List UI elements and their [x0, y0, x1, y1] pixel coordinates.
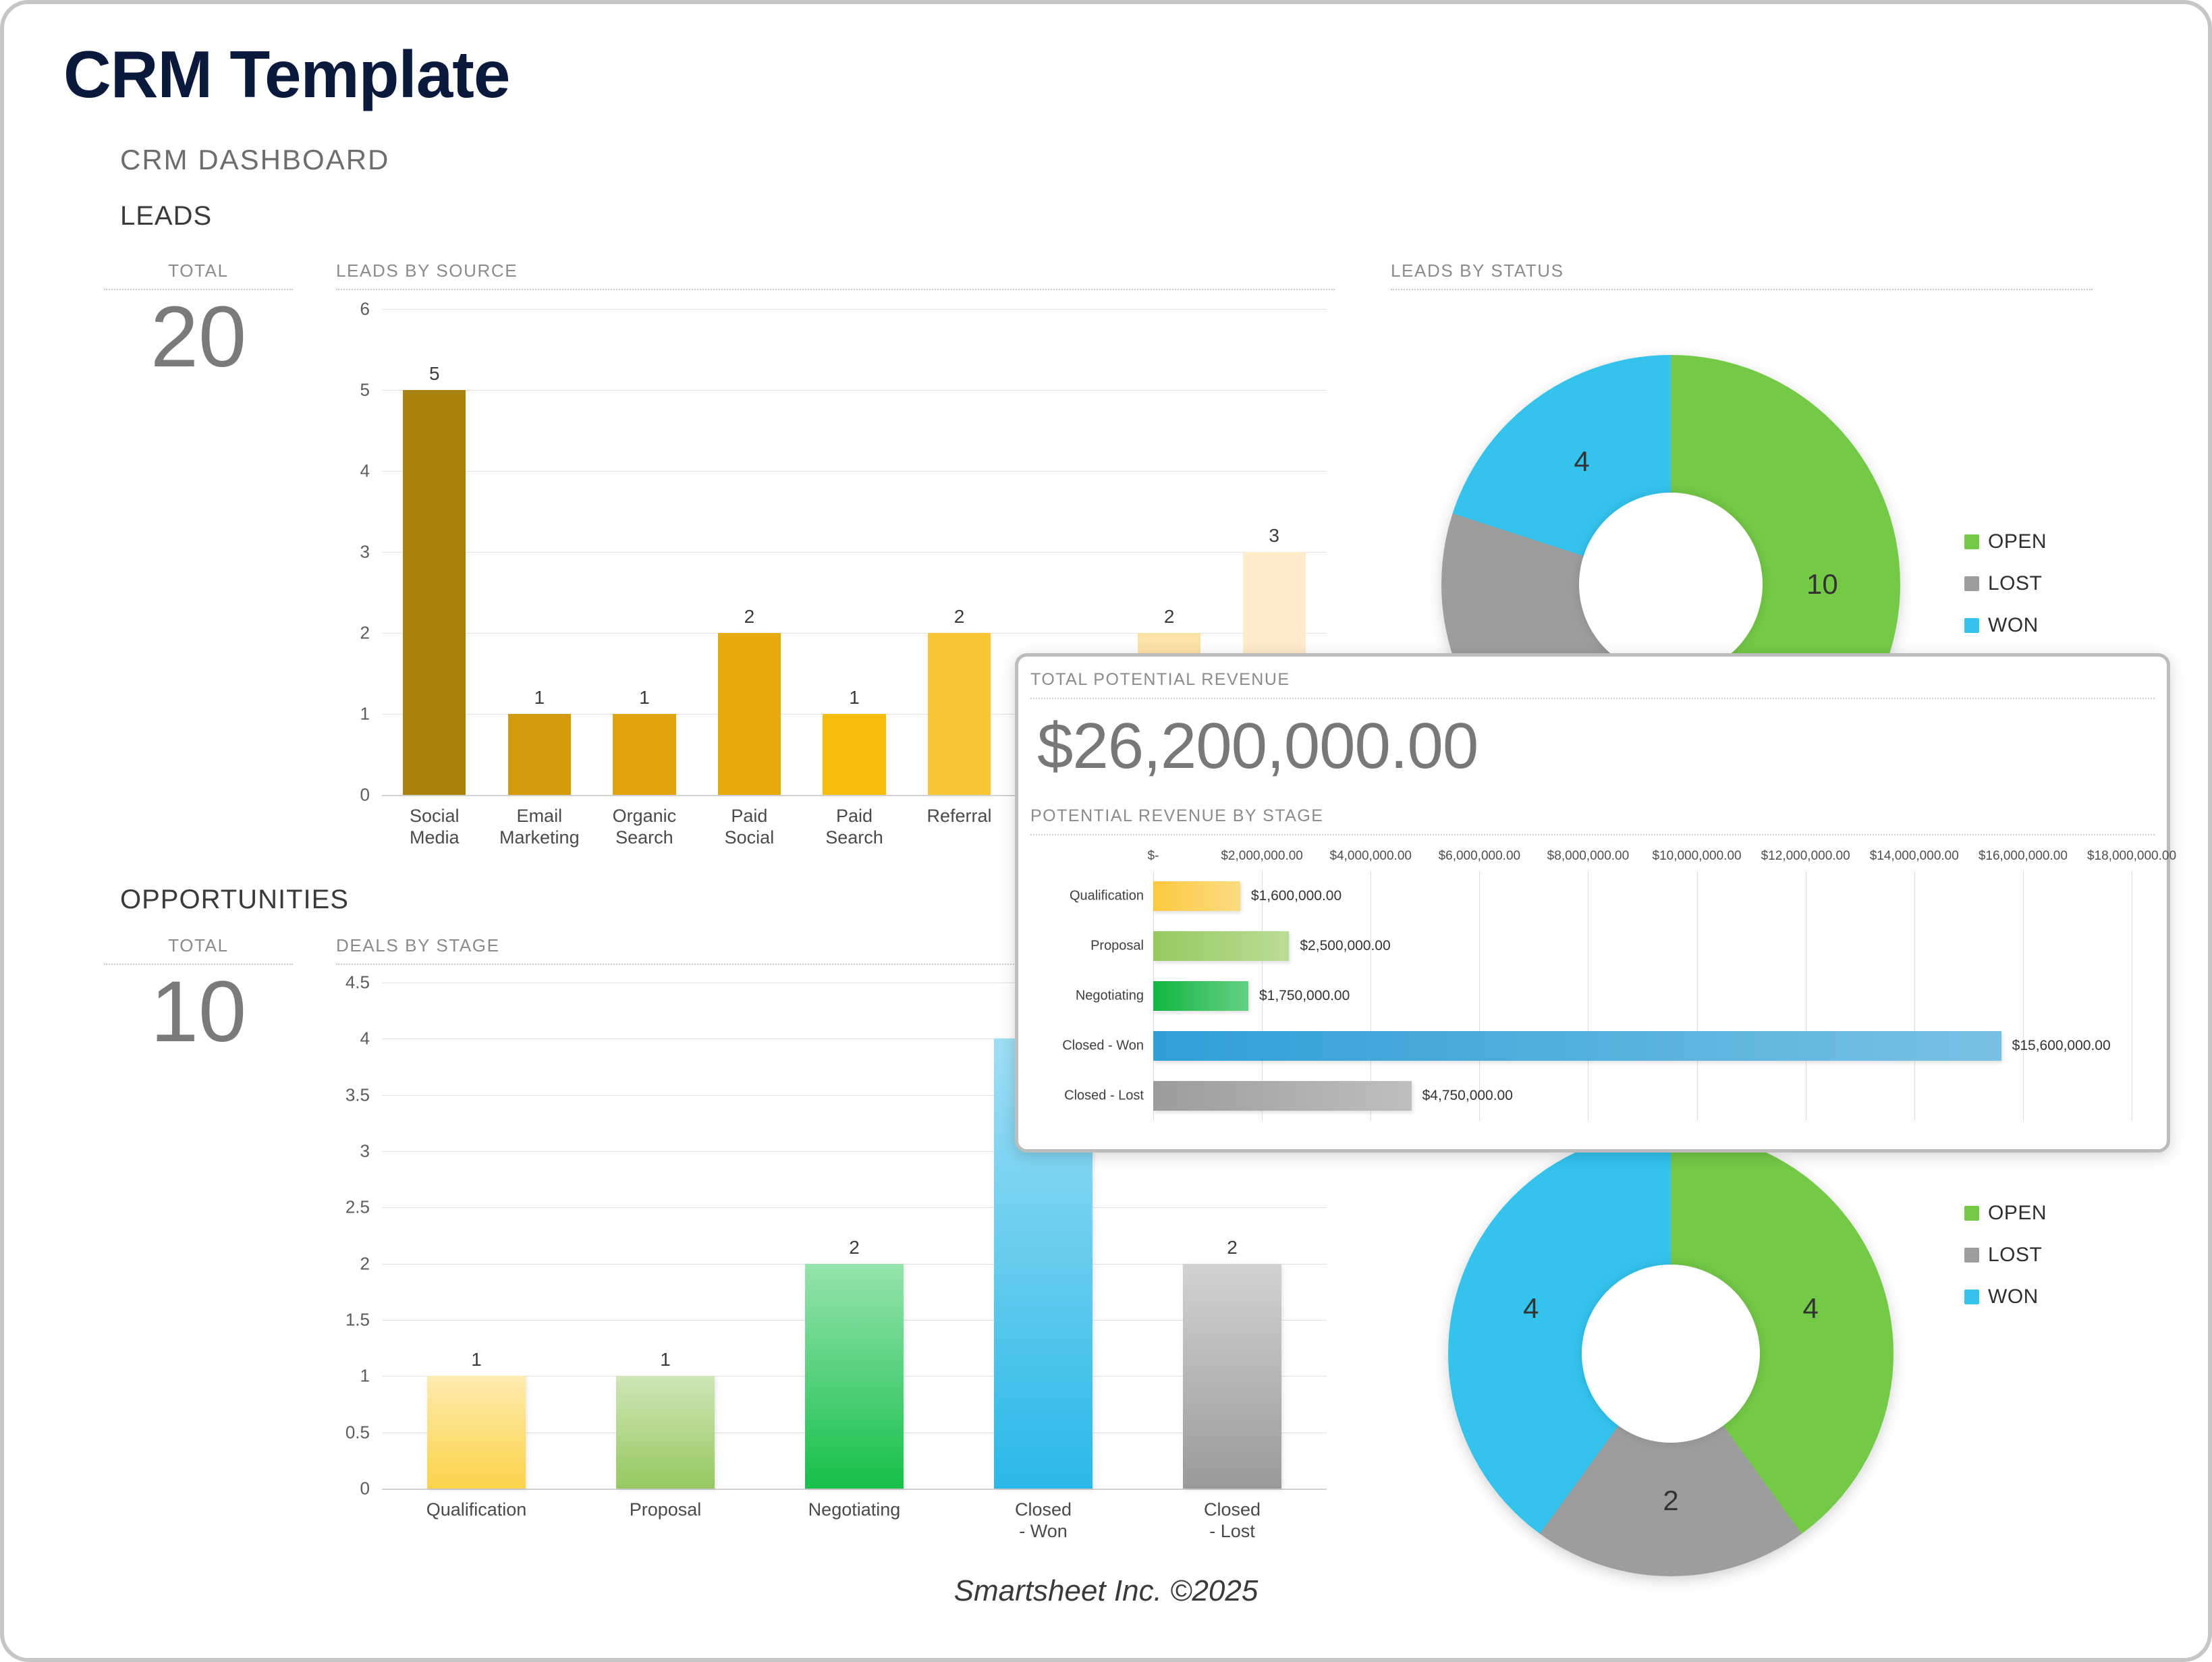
bar: 1Organic Search	[613, 714, 675, 795]
gridline	[1588, 871, 1588, 1121]
bar-value-label: 1	[534, 687, 545, 709]
x-axis-category-label: Referral	[927, 806, 992, 827]
legend-item: LOST	[1964, 1244, 2047, 1267]
legend-item: WON	[1964, 614, 2047, 637]
gridline	[1479, 871, 1480, 1121]
legend-item: WON	[1964, 1285, 2047, 1308]
legend-label: LOST	[1988, 572, 2042, 595]
bar-value-label: 1	[849, 687, 860, 709]
section-heading-opportunities: OPPORTUNITIES	[120, 885, 349, 915]
bar-value-label: $1,600,000.00	[1251, 888, 1342, 904]
donut-slice-label: 4	[1523, 1292, 1539, 1325]
y-axis-tick-label: 0	[360, 1478, 382, 1499]
bar: 1Email Marketing	[508, 714, 571, 795]
total-potential-revenue-caption: TOTAL POTENTIAL REVENUE	[1030, 670, 2155, 699]
bar: 2Referral	[928, 633, 991, 795]
gridline	[382, 1489, 1327, 1490]
x-axis-category-label: Proposal	[630, 1499, 702, 1521]
bar-value-label: $4,750,000.00	[1422, 1088, 1513, 1104]
x-axis-tick-label: $2,000,000.00	[1221, 849, 1303, 864]
y-axis-tick-label: 1	[360, 1366, 382, 1387]
potential-revenue-by-stage-chart: $-$2,000,000.00$4,000,000.00$6,000,000.0…	[1153, 871, 2132, 1121]
y-axis-tick-label: 4	[360, 461, 382, 482]
gridline	[382, 1207, 1327, 1208]
opportunities-by-status-legend: OPENLOSTWON	[1964, 1202, 2047, 1327]
bar-value-label: 2	[849, 1237, 860, 1258]
bar: 1Qualification	[427, 1376, 526, 1489]
legend-label: OPEN	[1988, 1202, 2047, 1225]
x-axis-category-label: Paid Social	[725, 806, 775, 849]
legend-swatch	[1964, 1248, 1979, 1263]
leads-by-status-caption: LEADS BY STATUS	[1391, 260, 2093, 290]
legend-swatch	[1964, 618, 1979, 633]
page-title: CRM Template	[63, 36, 509, 113]
bar: 2Paid Social	[718, 633, 781, 795]
y-axis-tick-label: 6	[360, 299, 382, 320]
gridline	[1914, 871, 1915, 1121]
opportunities-total-value: 10	[104, 969, 293, 1055]
bar-value-label: 3	[1269, 525, 1279, 547]
y-axis-tick-label: 0.5	[345, 1422, 382, 1443]
bar	[1153, 931, 1289, 961]
bar	[1153, 881, 1240, 911]
donut-slice-label: 10	[1806, 568, 1838, 601]
bar-value-label: 2	[1164, 606, 1175, 628]
x-axis-category-label: Closed - Lost	[1204, 1499, 1261, 1543]
x-axis-category-label: Organic Search	[613, 806, 677, 849]
bar-value-label: 2	[744, 606, 755, 628]
y-axis-category-label: Proposal	[1090, 939, 1153, 954]
section-heading-leads: LEADS	[120, 201, 212, 231]
bar	[1153, 981, 1248, 1011]
donut-slice-label: 4	[1574, 445, 1589, 478]
gridline	[382, 471, 1327, 472]
bar: 1Paid Search	[823, 714, 885, 795]
potential-revenue-by-stage-caption: POTENTIAL REVENUE BY STAGE	[1030, 806, 2155, 835]
y-axis-tick-label: 5	[360, 380, 382, 401]
x-axis-category-label: Closed - Won	[1015, 1499, 1072, 1543]
gridline	[2132, 871, 2132, 1121]
bar: 2Negotiating	[805, 1264, 904, 1489]
gridline	[382, 390, 1327, 391]
y-axis-tick-label: 3	[360, 542, 382, 563]
legend-label: WON	[1988, 614, 2039, 637]
bar: 1Proposal	[616, 1376, 715, 1489]
total-potential-revenue-card[interactable]: TOTAL POTENTIAL REVENUE $26,200,000.00 P…	[1015, 653, 2170, 1153]
dashboard-page: CRM Template CRM DASHBOARD LEADS TOTAL 2…	[0, 0, 2212, 1662]
x-axis-category-label: Paid Search	[825, 806, 883, 849]
x-axis-tick-label: $18,000,000.00	[2087, 849, 2176, 864]
bar: 5Social Media	[403, 390, 466, 795]
legend-swatch	[1964, 1290, 1979, 1304]
gridline	[382, 552, 1327, 553]
x-axis-category-label: Negotiating	[808, 1499, 901, 1521]
leads-total-value: 20	[104, 294, 293, 381]
x-axis-tick-label: $16,000,000.00	[1979, 849, 2068, 864]
gridline	[1806, 871, 1806, 1121]
donut-hole	[1582, 1265, 1760, 1443]
y-axis-tick-label: 1	[360, 704, 382, 725]
bar-value-label: 2	[954, 606, 965, 628]
legend-item: LOST	[1964, 572, 2047, 595]
gridline	[382, 309, 1327, 310]
leads-by-status-legend: OPENLOSTWON	[1964, 530, 2047, 656]
bar: 2Closed - Lost	[1183, 1264, 1281, 1489]
gridline	[1697, 871, 1698, 1121]
y-axis-category-label: Negotiating	[1076, 989, 1153, 1004]
bar-value-label: $1,750,000.00	[1259, 988, 1350, 1004]
y-axis-tick-label: 2	[360, 1253, 382, 1274]
bar-value-label: 1	[660, 1349, 671, 1370]
x-axis-category-label: Email Marketing	[499, 806, 580, 849]
x-axis-category-label: Qualification	[426, 1499, 527, 1521]
bar-value-label: 2	[1227, 1237, 1238, 1258]
opportunities-total-caption: TOTAL	[104, 935, 293, 965]
x-axis-tick-label: $8,000,000.00	[1547, 849, 1630, 864]
bar-value-label: $15,600,000.00	[2012, 1038, 2111, 1054]
x-axis-category-label: Social Media	[410, 806, 460, 849]
bar	[1153, 1031, 2001, 1061]
y-axis-tick-label: 2.5	[345, 1197, 382, 1218]
y-axis-category-label: Qualification	[1070, 889, 1153, 904]
y-axis-category-label: Closed - Won	[1062, 1038, 1153, 1054]
total-potential-revenue-value: $26,200,000.00	[1037, 709, 1478, 783]
legend-swatch	[1964, 1206, 1979, 1221]
footer-text: Smartsheet Inc. ©2025	[4, 1574, 2208, 1608]
legend-swatch	[1964, 534, 1979, 549]
y-axis-tick-label: 0	[360, 785, 382, 806]
y-axis-tick-label: 3	[360, 1141, 382, 1162]
bar-value-label: 5	[429, 363, 440, 385]
y-axis-tick-label: 3.5	[345, 1084, 382, 1105]
legend-label: OPEN	[1988, 530, 2047, 553]
x-axis-tick-label: $10,000,000.00	[1653, 849, 1742, 864]
gridline	[2023, 871, 2024, 1121]
donut-slice-label: 4	[1802, 1292, 1818, 1325]
opportunities-by-status-donut: 424	[1448, 1131, 1893, 1576]
y-axis-tick-label: 2	[360, 623, 382, 644]
bar	[1153, 1081, 1412, 1111]
leads-by-source-caption: LEADS BY SOURCE	[336, 260, 1335, 290]
y-axis-tick-label: 1.5	[345, 1310, 382, 1331]
x-axis-tick-label: $12,000,000.00	[1761, 849, 1850, 864]
bar-value-label: 1	[639, 687, 650, 709]
x-axis-tick-label: $14,000,000.00	[1870, 849, 1959, 864]
donut-slice-label: 2	[1663, 1485, 1678, 1517]
y-axis-tick-label: 4.5	[345, 972, 382, 993]
legend-item: OPEN	[1964, 1202, 2047, 1225]
x-axis-tick-label: $6,000,000.00	[1439, 849, 1521, 864]
legend-label: WON	[1988, 1285, 2039, 1308]
donut-hole	[1579, 493, 1763, 676]
x-axis-tick-label: $4,000,000.00	[1329, 849, 1412, 864]
legend-label: LOST	[1988, 1244, 2042, 1267]
y-axis-tick-label: 4	[360, 1028, 382, 1049]
legend-swatch	[1964, 576, 1979, 591]
legend-item: OPEN	[1964, 530, 2047, 553]
x-axis-tick-label: $-	[1148, 849, 1159, 864]
page-subtitle: CRM DASHBOARD	[120, 144, 389, 176]
y-axis-category-label: Closed - Lost	[1064, 1088, 1153, 1104]
bar-value-label: 1	[471, 1349, 482, 1370]
bar-value-label: $2,500,000.00	[1300, 938, 1390, 954]
leads-total-caption: TOTAL	[104, 260, 293, 290]
